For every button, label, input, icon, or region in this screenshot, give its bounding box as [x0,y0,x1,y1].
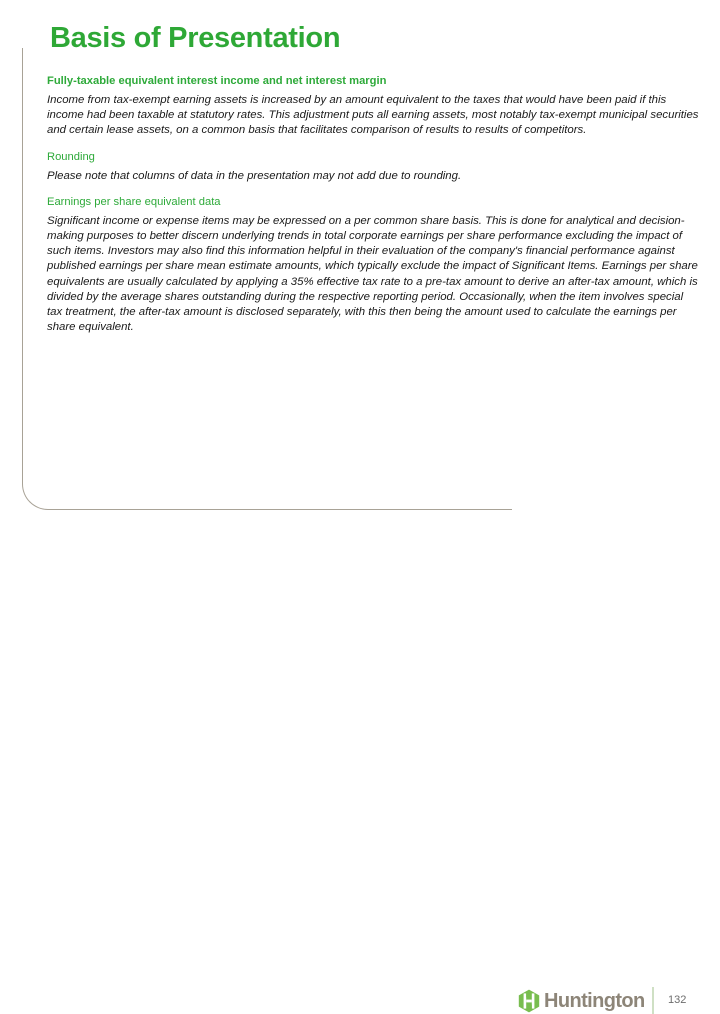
section-heading: Fully-taxable equivalent interest income… [47,74,699,88]
section-body: Significant income or expense items may … [47,214,699,336]
section-earnings-per-share-equivalent-data: Earnings per share equivalent data Signi… [47,195,699,336]
section-body: Please note that columns of data in the … [47,169,699,184]
footer-divider [652,987,654,1014]
slide-footer: Huntington 132 [0,491,720,540]
page-title: Basis of Presentation [50,22,340,55]
page-number: 132 [668,994,686,1006]
section-heading: Rounding [47,150,699,164]
section-heading: Earnings per share equivalent data [47,195,699,209]
brand-wordmark: Huntington [544,991,645,1011]
section-body: Income from tax-exempt earning assets is… [47,93,699,139]
slide-content: Fully-taxable equivalent interest income… [47,74,699,344]
slide-canvas: Basis of Presentation Fully-taxable equi… [0,0,720,540]
huntington-hexagon-icon [518,989,540,1013]
section-fully-taxable-equivalent: Fully-taxable equivalent interest income… [47,74,699,139]
section-rounding: Rounding Please note that columns of dat… [47,150,699,184]
huntington-logo: Huntington [518,988,645,1014]
